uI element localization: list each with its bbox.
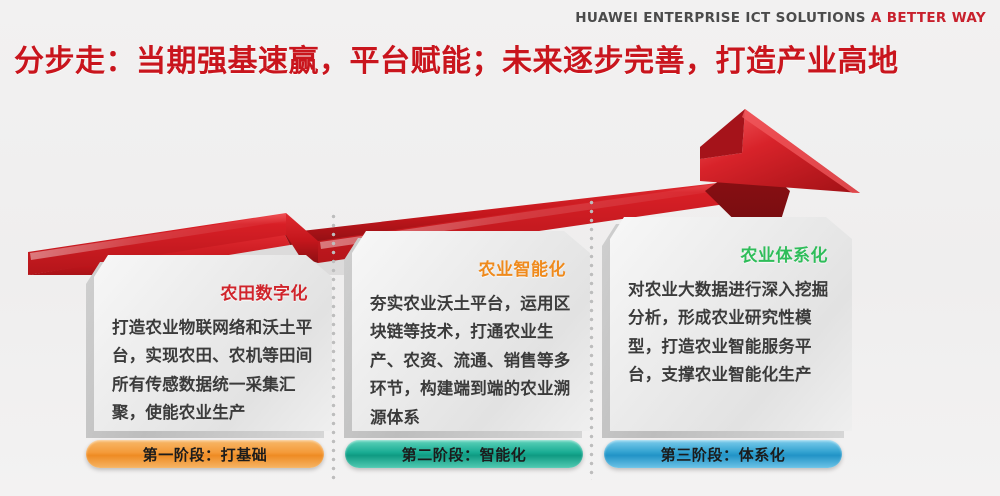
slide-canvas: HUAWEI ENTERPRISE ICT SOLUTIONS A BETTER… — [0, 0, 1000, 496]
card-2-title: 农业智能化 — [370, 255, 566, 280]
card-1-body: 打造农业物联网络和沃土平台，实现农田、农机等田间所有传感数据统一采集汇聚，使能农… — [112, 314, 316, 428]
card-1-title: 农田数字化 — [112, 279, 308, 304]
arrow-sheen-left — [30, 214, 286, 260]
divider-1 — [331, 212, 336, 480]
arrow-head-facet — [700, 109, 745, 159]
card-3-title: 农业体系化 — [628, 241, 828, 266]
brand-main-text: HUAWEI ENTERPRISE ICT SOLUTIONS — [575, 10, 866, 26]
brand-bar: HUAWEI ENTERPRISE ICT SOLUTIONS A BETTER… — [575, 10, 986, 26]
stage-2-label: 第二阶段：智能化 — [402, 444, 527, 465]
stage-1-label: 第一阶段：打基础 — [143, 444, 268, 465]
card-3[interactable]: 农业体系化 对农业大数据进行深入挖掘分析，形成农业研究性模型，打造农业智能服务平… — [610, 217, 852, 431]
arrow-head-highlight — [742, 109, 860, 193]
stage-3-pill[interactable]: 第三阶段：体系化 — [604, 440, 842, 468]
card-1[interactable]: 农田数字化 打造农业物联网络和沃土平台，实现农田、农机等田间所有传感数据统一采集… — [94, 255, 332, 431]
brand-accent-text: A BETTER WAY — [871, 10, 986, 26]
card-1-inner: 农田数字化 打造农业物联网络和沃土平台，实现农田、农机等田间所有传感数据统一采集… — [94, 255, 332, 431]
arrow-head — [700, 109, 860, 193]
card-2-body: 夯实农业沃土平台，运用区块链等技术，打通农业生产、农资、流通、销售等多环节，构建… — [370, 290, 574, 432]
card-2-inner: 农业智能化 夯实农业沃土平台，运用区块链等技术，打通农业生产、农资、流通、销售等… — [352, 231, 590, 431]
card-3-inner: 农业体系化 对农业大数据进行深入挖掘分析，形成农业研究性模型，打造农业智能服务平… — [610, 217, 852, 431]
stage-2-pill[interactable]: 第二阶段：智能化 — [345, 440, 583, 468]
card-3-body: 对农业大数据进行深入挖掘分析，形成农业研究性模型，打造农业智能服务平台，支撑农业… — [628, 276, 836, 390]
divider-2 — [589, 198, 594, 480]
page-title: 分步走：当期强基速赢，平台赋能；未来逐步完善，打造产业高地 — [14, 36, 994, 80]
stage-3-label: 第三阶段：体系化 — [661, 444, 786, 465]
stage-1-pill[interactable]: 第一阶段：打基础 — [86, 440, 324, 468]
card-2[interactable]: 农业智能化 夯实农业沃土平台，运用区块链等技术，打通农业生产、农资、流通、销售等… — [352, 231, 590, 431]
